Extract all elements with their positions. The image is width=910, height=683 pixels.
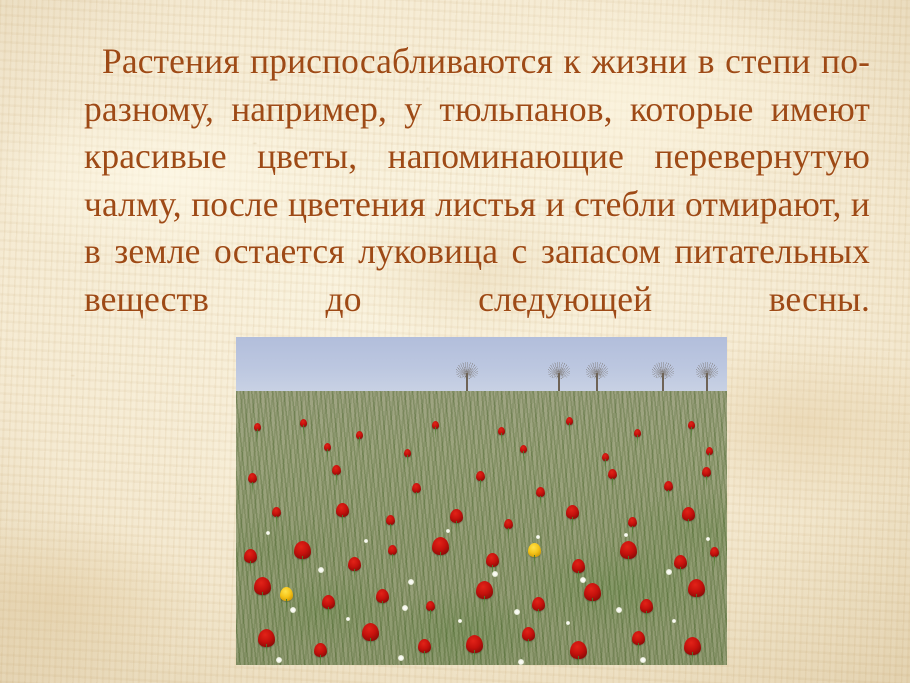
bare-tree-icon — [650, 361, 676, 391]
bare-tree-icon — [546, 361, 572, 391]
slide-body-text: Растения приспосабливаются к жизни в сте… — [84, 38, 870, 323]
field-region — [236, 391, 727, 665]
slide-canvas: Растения приспосабливаются к жизни в сте… — [0, 0, 910, 683]
bare-tree-icon — [584, 361, 610, 391]
bare-tree-icon — [694, 361, 720, 391]
bare-tree-icon — [454, 361, 480, 391]
grass-texture — [236, 391, 727, 665]
steppe-tulip-field-photo — [236, 337, 727, 665]
